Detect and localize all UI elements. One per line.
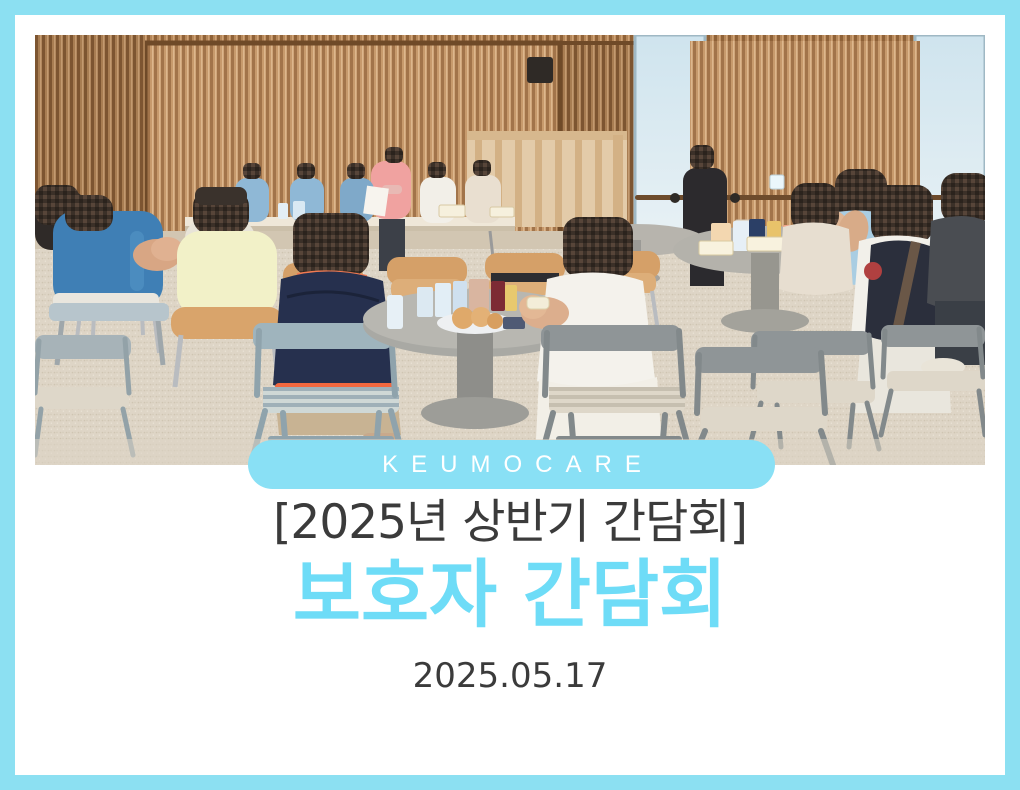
event-date: 2025.05.17 (15, 659, 1005, 693)
poster-inner-panel: KEUMOCARE [2025년 상반기 간담회] 보호자 간담회 2025.0… (15, 15, 1005, 775)
event-photo-illustration (35, 35, 985, 465)
caption-block: [2025년 상반기 간담회] 보호자 간담회 2025.05.17 (15, 497, 1005, 693)
event-title: 보호자 간담회 (15, 554, 1005, 637)
event-photo (35, 35, 985, 465)
brand-badge-label: KEUMOCARE (369, 453, 654, 477)
brand-badge: KEUMOCARE (248, 440, 775, 489)
poster-card: KEUMOCARE [2025년 상반기 간담회] 보호자 간담회 2025.0… (0, 0, 1020, 790)
event-subtitle: [2025년 상반기 간담회] (15, 497, 1005, 550)
